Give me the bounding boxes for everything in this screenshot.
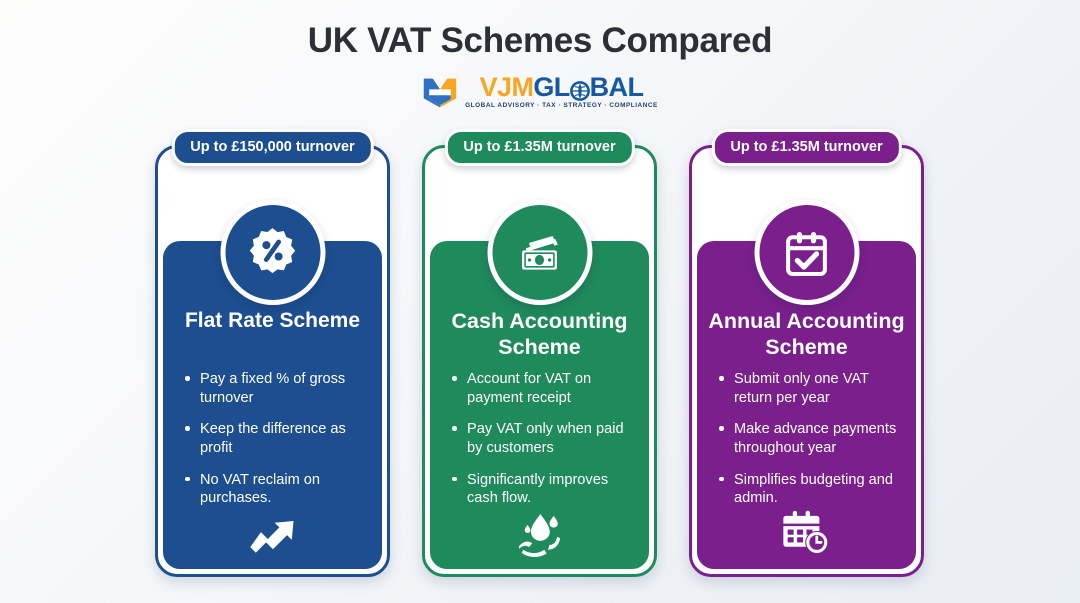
card-bullet-list: Submit only one VAT return per year Make… — [718, 370, 907, 521]
scheme-card-flat-rate[interactable]: Up to £150,000 turnover Flat Rate Scheme… — [155, 145, 390, 577]
cash-banknotes-icon — [487, 200, 592, 305]
card-title: Flat Rate Scheme — [170, 308, 375, 333]
card-title: Annual Accounting Scheme — [704, 308, 909, 360]
turnover-badge: Up to £1.35M turnover — [711, 129, 901, 166]
list-item: Pay a fixed % of gross turnover — [184, 370, 373, 407]
list-item: Make advance payments throughout year — [718, 420, 907, 457]
list-item: Significantly improves cash flow. — [451, 471, 640, 508]
turnover-badge: Up to £1.35M turnover — [444, 129, 634, 166]
logo-word-gl: GL — [533, 74, 569, 101]
brand-logo: VJMGL BAL GLOBAL ADVISORY · TAX · STRATE… — [0, 74, 1080, 109]
card-bullet-list: Pay a fixed % of gross turnover Keep the… — [184, 370, 373, 521]
list-item: Submit only one VAT return per year — [718, 370, 907, 407]
card-title: Cash Accounting Scheme — [437, 308, 642, 360]
list-item: Simplifies budgeting and admin. — [718, 471, 907, 508]
list-item: No VAT reclaim on purchases. — [184, 471, 373, 508]
trending-up-arrow-icon — [158, 509, 387, 557]
list-item: Account for VAT on payment receipt — [451, 370, 640, 407]
water-drop-cashflow-icon — [425, 509, 654, 557]
logo-tagline: GLOBAL ADVISORY · TAX · STRATEGY · COMPL… — [465, 103, 658, 109]
vjm-logo-mark-icon — [422, 75, 458, 109]
calendar-clock-icon — [692, 509, 921, 557]
infographic-canvas: UK VAT Schemes Compared VJMGL — [0, 0, 1080, 603]
list-item: Keep the difference as profit — [184, 420, 373, 457]
page-title: UK VAT Schemes Compared — [0, 21, 1080, 61]
list-item: Pay VAT only when paid by customers — [451, 420, 640, 457]
globe-icon — [570, 79, 590, 99]
logo-word-vjm: VJM — [480, 74, 534, 101]
scheme-cards: Up to £150,000 turnover Flat Rate Scheme… — [0, 140, 1080, 580]
card-bullet-list: Account for VAT on payment receipt Pay V… — [451, 370, 640, 521]
percent-badge-icon — [220, 200, 325, 305]
turnover-badge: Up to £150,000 turnover — [171, 129, 373, 166]
calendar-check-icon — [754, 200, 859, 305]
scheme-card-annual-accounting[interactable]: Up to £1.35M turnover Annual Accounting … — [689, 145, 924, 577]
scheme-card-cash-accounting[interactable]: Up to £1.35M turnover Cash Accounting Sc… — [422, 145, 657, 577]
logo-word-bal: BAL — [590, 74, 644, 101]
